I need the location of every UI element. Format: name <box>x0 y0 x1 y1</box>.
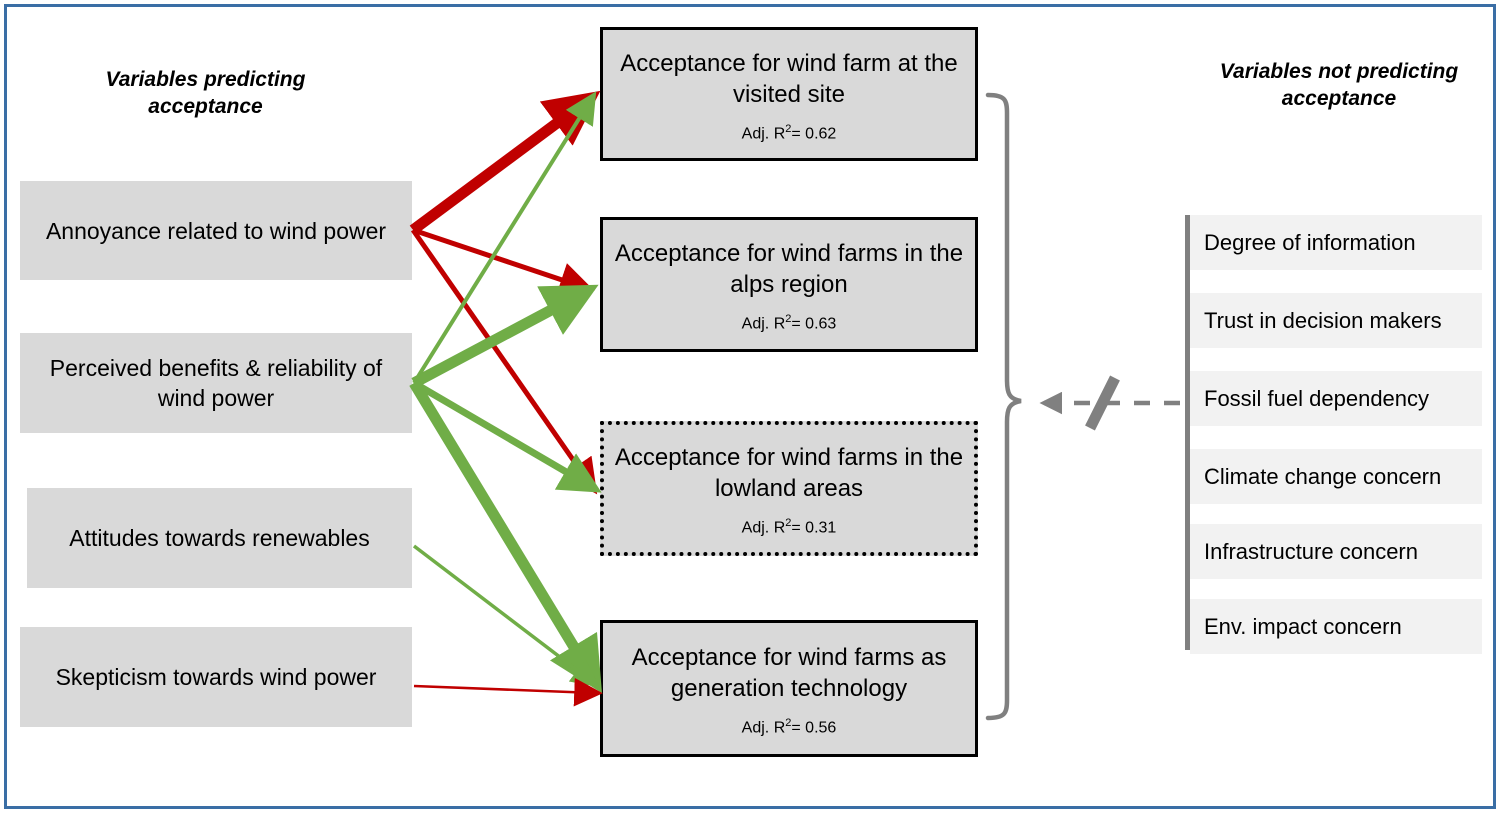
outcome-r2-prefix: Adj. R <box>742 125 786 142</box>
arrow-benefits-to-generation-technology <box>414 383 594 680</box>
non-predictor-label: Degree of information <box>1204 229 1416 257</box>
non-predictor-item-degree-of-information[interactable]: Degree of information <box>1190 215 1482 270</box>
outcome-box-alps-region[interactable]: Acceptance for wind farms in the alps re… <box>600 217 978 352</box>
non-predictor-label: Fossil fuel dependency <box>1204 385 1429 413</box>
outcome-r2: Adj. R2= 0.63 <box>742 309 837 334</box>
non-predictor-item-infrastructure-concern[interactable]: Infrastructure concern <box>1190 524 1482 579</box>
outcome-r2-value: = 0.56 <box>791 720 836 737</box>
outcome-box-lowland-areas[interactable]: Acceptance for wind farms in the lowland… <box>600 421 978 556</box>
predictor-box-annoyance[interactable]: Annoyance related to wind power <box>20 181 412 280</box>
outcome-title: Acceptance for wind farms in the alps re… <box>603 238 975 300</box>
non-predictor-label: Infrastructure concern <box>1204 538 1418 566</box>
outcome-r2-prefix: Adj. R <box>742 520 786 537</box>
non-predictor-item-fossil-fuel-dependency[interactable]: Fossil fuel dependency <box>1190 371 1482 426</box>
non-predictor-list-rail <box>1185 215 1190 650</box>
non-predictor-item-env-impact-concern[interactable]: Env. impact concern <box>1190 599 1482 654</box>
figure-canvas: Variables predicting acceptance Variable… <box>0 0 1500 813</box>
outcome-r2-value: = 0.63 <box>791 316 836 333</box>
arrow-benefits-to-lowland-areas <box>414 383 592 487</box>
arrow-annoyance-to-alps-region <box>413 230 586 288</box>
non-predictor-item-climate-change-concern[interactable]: Climate change concern <box>1190 449 1482 504</box>
outcome-r2: Adj. R2= 0.62 <box>742 119 837 144</box>
predictor-box-attitudes[interactable]: Attitudes towards renewables <box>27 488 412 588</box>
arrow-annoyance-to-visited-site <box>413 100 588 230</box>
predictor-label: Attitudes towards renewables <box>69 523 369 553</box>
non-predictor-label: Trust in decision makers <box>1204 307 1442 335</box>
outcome-title: Acceptance for wind farms in the lowland… <box>604 442 974 504</box>
predictor-box-skepticism[interactable]: Skepticism towards wind power <box>20 627 412 727</box>
outcome-title: Acceptance for wind farm at the visited … <box>603 48 975 110</box>
outcome-r2-prefix: Adj. R <box>742 316 786 333</box>
non-predictor-label: Env. impact concern <box>1204 613 1402 641</box>
left-column-header: Variables predicting acceptance <box>78 66 333 120</box>
outcome-box-visited-site[interactable]: Acceptance for wind farm at the visited … <box>600 27 978 161</box>
outcome-r2-value: = 0.62 <box>791 125 836 142</box>
non-predictor-item-trust-in-decision-makers[interactable]: Trust in decision makers <box>1190 293 1482 348</box>
predictor-label: Skepticism towards wind power <box>56 662 377 692</box>
predictor-label: Annoyance related to wind power <box>46 216 386 246</box>
right-column-header: Variables not predicting acceptance <box>1203 58 1475 112</box>
non-predictor-label: Climate change concern <box>1204 463 1441 491</box>
predictor-box-perceived-benefits[interactable]: Perceived benefits & reliability of wind… <box>20 333 412 433</box>
outcome-r2: Adj. R2= 0.31 <box>742 513 837 538</box>
no-relation-strike-icon <box>1090 378 1115 428</box>
arrow-annoyance-to-lowland-areas <box>413 230 592 487</box>
arrow-skepticism-to-generation-technology <box>414 686 595 693</box>
arrow-benefits-to-visited-site <box>414 98 592 383</box>
outcome-r2: Adj. R2= 0.56 <box>742 713 837 738</box>
outcome-r2-value: = 0.31 <box>791 520 836 537</box>
outcome-group-brace <box>988 95 1021 718</box>
outcome-title: Acceptance for wind farms as generation … <box>603 642 975 704</box>
arrow-benefits-to-alps-region <box>414 292 585 383</box>
outcome-r2-prefix: Adj. R <box>742 720 786 737</box>
predictor-label: Perceived benefits & reliability of wind… <box>28 353 404 413</box>
arrow-attitudes-to-generation-technology <box>414 546 594 683</box>
outcome-box-generation-technology[interactable]: Acceptance for wind farms as generation … <box>600 620 978 757</box>
